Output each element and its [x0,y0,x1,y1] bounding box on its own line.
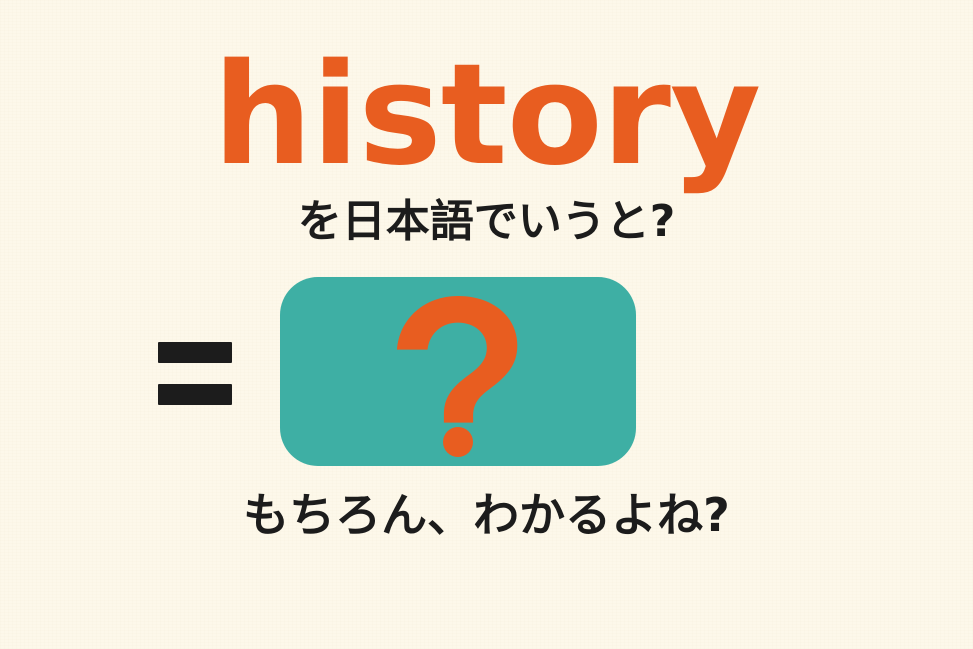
page-title: history [0,46,973,186]
equals-bar-top [158,342,232,363]
caption-text: もちろん、わかるよね? [0,487,973,543]
equation-row [0,277,973,467]
question-prompt: を日本語でいうと? [0,196,973,248]
quiz-card: history を日本語でいうと? もちろん、わかるよね? [0,0,973,649]
equals-bar-bottom [158,384,232,405]
answer-box[interactable] [280,277,636,466]
equals-sign-icon [158,342,232,405]
question-mark-icon [280,277,636,466]
